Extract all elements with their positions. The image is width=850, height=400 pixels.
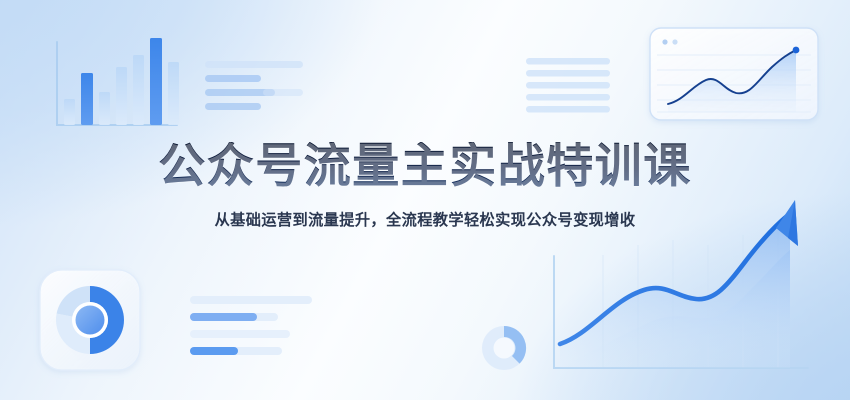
text-line xyxy=(526,94,610,101)
bar-chart-bars xyxy=(64,38,179,125)
donut-chart-card xyxy=(40,270,140,370)
text-line xyxy=(205,61,303,68)
bar-item xyxy=(168,62,179,125)
progress-fill xyxy=(190,347,238,355)
progress-bar-placeholders xyxy=(190,296,312,355)
bar-chart-decoration xyxy=(57,38,179,125)
course-banner: 公众号流量主实战特训课 从基础运营到流量提升，全流程教学轻松实现公众号变现增收 xyxy=(0,0,850,400)
browser-window-card xyxy=(650,28,818,120)
bar-item xyxy=(64,99,75,125)
text-line-tail xyxy=(263,89,303,96)
donut-center-dot xyxy=(76,306,105,335)
card-end-dot xyxy=(793,47,800,54)
text-line xyxy=(526,82,610,89)
text-line xyxy=(526,58,610,65)
progress-fill xyxy=(190,313,257,321)
growth-area-fill xyxy=(560,212,790,368)
small-donut-decoration xyxy=(482,326,526,370)
window-dot xyxy=(672,39,677,44)
banner-text-block: 公众号流量主实战特训课 从基础运营到流量提升，全流程教学轻松实现公众号变现增收 xyxy=(0,142,850,230)
bar-item xyxy=(99,92,110,125)
progress-track xyxy=(190,296,312,304)
bar-item xyxy=(150,38,162,125)
bar-item xyxy=(116,67,127,125)
window-dot xyxy=(662,39,667,44)
text-line-placeholders xyxy=(526,58,610,113)
text-line xyxy=(526,106,610,113)
page-subtitle: 从基础运营到流量提升，全流程教学轻松实现公众号变现增收 xyxy=(0,208,850,230)
text-line xyxy=(205,75,261,82)
text-line-placeholders xyxy=(205,61,303,110)
small-donut-hole xyxy=(494,338,515,359)
bar-item xyxy=(81,73,93,125)
text-line xyxy=(205,103,261,110)
page-title: 公众号流量主实战特训课 xyxy=(0,142,850,191)
donut-chart xyxy=(56,286,124,354)
progress-track xyxy=(190,330,290,338)
text-line xyxy=(526,70,610,77)
bar-item xyxy=(133,55,144,125)
